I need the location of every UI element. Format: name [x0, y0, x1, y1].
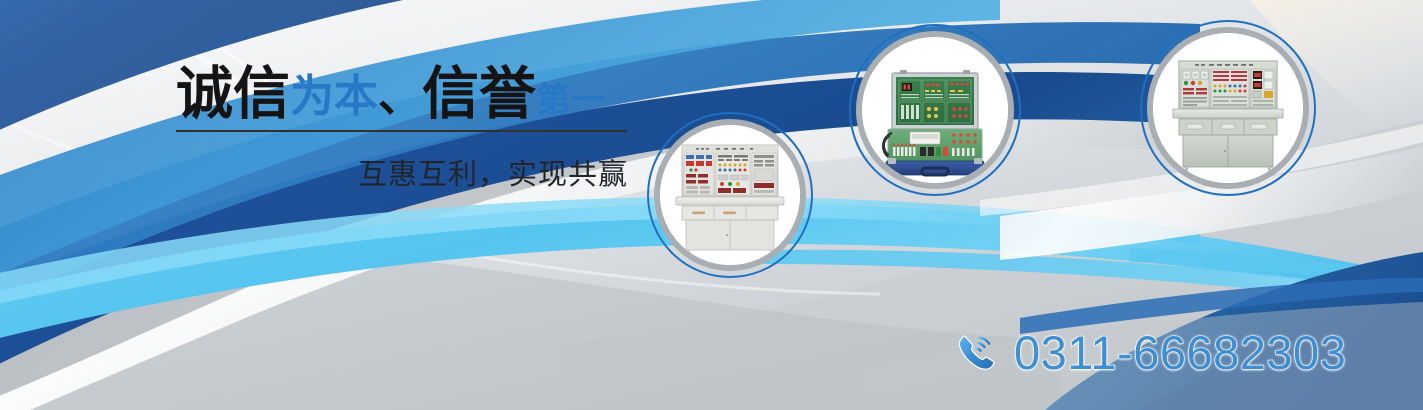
headline-block: 诚信为本、信誉第一 互惠互利，实现共赢 — [176, 64, 628, 193]
headline-part-3: 信誉 — [422, 62, 536, 126]
headline-part-1: 诚信 — [176, 62, 290, 126]
headline-separator: 、 — [378, 72, 422, 121]
headline-part-4: 第一 — [536, 81, 606, 120]
product-photo-training-case — [862, 37, 1008, 183]
product-photo-workbench — [660, 125, 800, 265]
product-circle-1[interactable] — [654, 119, 806, 271]
product-circle-3[interactable] — [1147, 27, 1309, 189]
promo-banner: 诚信为本、信誉第一 互惠互利，实现共赢 — [0, 0, 1423, 410]
contact-block[interactable]: 0311-66682303 — [952, 325, 1346, 380]
product-photo-control-bench — [1153, 33, 1303, 183]
phone-number[interactable]: 0311-66682303 — [1014, 325, 1346, 380]
headline-part-2: 为本 — [290, 72, 378, 121]
headline-divider — [176, 130, 627, 132]
subheadline: 互惠互利，实现共赢 — [176, 151, 628, 193]
page-title: 诚信为本、信誉第一 — [176, 64, 628, 124]
product-circle-2[interactable] — [856, 31, 1014, 189]
phone-ringing-icon — [952, 329, 1000, 377]
